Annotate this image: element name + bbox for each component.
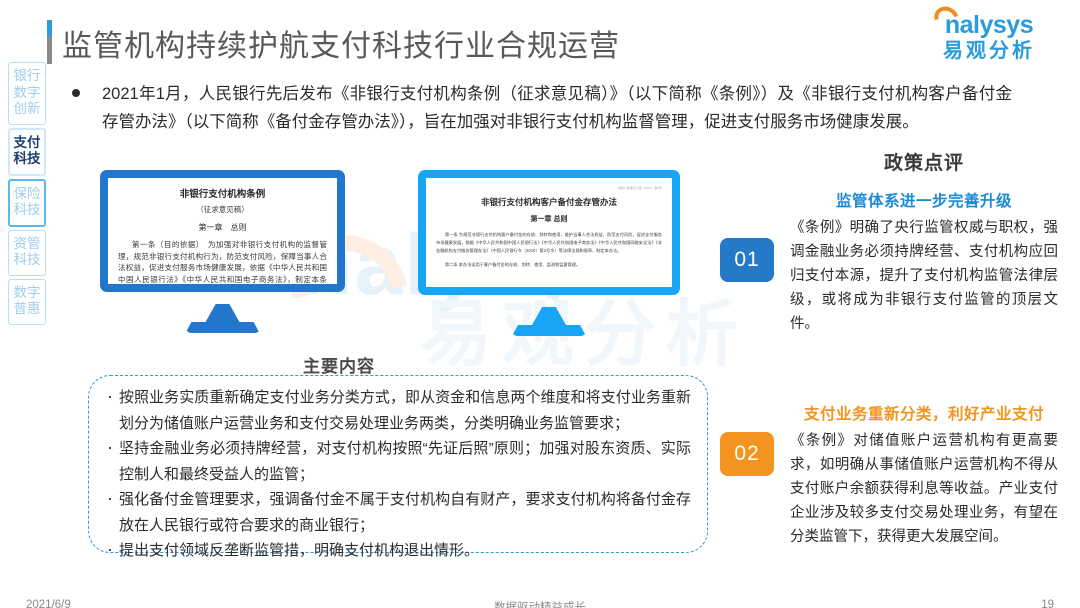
- monitor-left-stand-base: [186, 322, 260, 333]
- monitor-left-bezel: 非银行支付机构条例 （征求意见稿） 第一章 总则 第一条（目的依据） 为加强对非…: [100, 170, 345, 292]
- monitor-right-screen: 中国人民银行公告〔2021〕第1号 非银行支付机构客户备付金存管办法 第一章 总…: [426, 178, 672, 287]
- doc-title: 非银行支付机构条例: [118, 186, 327, 200]
- sidebar: 银行数字创新 支付科技 保险科技 资管科技 数字普惠: [8, 62, 46, 328]
- main-content-box: 按照业务实质重新确定支付业务分类方式，即从资金和信息两个维度和将支付业务重新划分…: [88, 375, 708, 553]
- doc-header: 中国人民银行公告〔2021〕第1号: [436, 186, 662, 190]
- monitor-right-bezel: 中国人民银行公告〔2021〕第1号 非银行支付机构客户备付金存管办法 第一章 总…: [418, 170, 680, 295]
- doc-title: 非银行支付机构客户备付金存管办法: [436, 196, 662, 208]
- doc-paragraph: 第一条（目的依据） 为加强对非银行支付机构的监督管理，规范非银行支付机构行为，防…: [118, 239, 327, 284]
- title-accent-bar: [47, 20, 52, 64]
- intro-paragraph: 2021年1月，人民银行先后发布《非银行支付机构条例（征求意见稿）》（以下简称《…: [72, 80, 1012, 136]
- sidebar-item-label: 保险科技: [10, 186, 44, 219]
- badge-01: 01: [720, 238, 774, 282]
- policy-commentary-title: 政策点评: [790, 148, 1058, 175]
- footer-slogan: 数据驱动精益成长: [0, 599, 1080, 608]
- main-content-label: 主要内容: [303, 352, 375, 377]
- policy-block-2-body: 《条例》对储值账户运营机构有更高要求，如明确从事储值账户运营机构不得从支付账户余…: [790, 429, 1058, 549]
- brand-logo-en: nalysys: [924, 12, 1054, 39]
- brand-logo-cn: 易观分析: [924, 39, 1054, 63]
- doc-paragraph-1: 第一条 为规范非银行支付机构客户备付金的存放、划转和使用，维护当事人合法权益，防…: [436, 231, 662, 255]
- doc-chapter: 第一章 总则: [118, 222, 327, 233]
- list-item: 按照业务实质重新确定支付业务分类方式，即从资金和信息两个维度和将支付业务重新划分…: [105, 385, 691, 436]
- sidebar-item-label: 数字普惠: [9, 285, 45, 318]
- policy-block-1-body: 《条例》明确了央行监管权威与职权，强调金融业务必须持牌经营、支付机构应回归支付本…: [790, 216, 1058, 336]
- page-title: 监管机构持续护航支付科技行业合规运营: [62, 21, 620, 65]
- brand-logo: nalysys 易观分析: [924, 12, 1054, 68]
- list-item: 强化备付金管理要求，强调备付金不属于支付机构自有财产，要求支付机构将备付金存放在…: [105, 487, 691, 538]
- bullet-dot-icon: [72, 89, 80, 97]
- policy-block-2-heading: 支付业务重新分类，利好产业支付: [790, 402, 1058, 424]
- badge-02: 02: [720, 432, 774, 476]
- monitor-left-screen: 非银行支付机构条例 （征求意见稿） 第一章 总则 第一条（目的依据） 为加强对非…: [108, 178, 337, 284]
- policy-block-1: 监管体系进一步完善升级 《条例》明确了央行监管权威与职权，强调金融业务必须持牌经…: [790, 189, 1058, 336]
- footer-page-number: 19: [1041, 599, 1054, 608]
- sidebar-item-label: 支付科技: [10, 135, 44, 168]
- intro-text: 2021年1月，人民银行先后发布《非银行支付机构条例（征求意见稿）》（以下简称《…: [102, 80, 1012, 136]
- policy-commentary-panel: 政策点评 监管体系进一步完善升级 《条例》明确了央行监管权威与职权，强调金融业务…: [790, 148, 1058, 549]
- policy-block-1-heading: 监管体系进一步完善升级: [790, 189, 1058, 211]
- monitor-left: 非银行支付机构条例 （征求意见稿） 第一章 总则 第一条（目的依据） 为加强对非…: [100, 170, 345, 333]
- monitor-left-stand-neck: [206, 304, 240, 322]
- list-item: 提出支付领域反垄断监管措，明确支付机构退出情形。: [105, 538, 691, 564]
- monitor-right-stand-base: [512, 325, 586, 336]
- sidebar-item-label: 资管科技: [9, 236, 45, 269]
- monitor-right: 中国人民银行公告〔2021〕第1号 非银行支付机构客户备付金存管办法 第一章 总…: [418, 170, 680, 336]
- sidebar-item-bank-digital[interactable]: 银行数字创新: [8, 62, 46, 125]
- doc-subtitle: （征求意见稿）: [118, 204, 327, 215]
- sidebar-item-asset-tech[interactable]: 资管科技: [8, 230, 46, 276]
- monitor-right-stand-neck: [532, 307, 566, 325]
- sidebar-item-label: 银行数字创新: [9, 68, 45, 118]
- doc-chapter: 第一章 总则: [436, 214, 662, 224]
- policy-block-2: 支付业务重新分类，利好产业支付 《条例》对储值账户运营机构有更高要求，如明确从事…: [790, 402, 1058, 549]
- sidebar-item-insurance-tech[interactable]: 保险科技: [8, 179, 46, 227]
- list-item: 坚持金融业务必须持牌经营，对支付机构按照“先证后照”原则；加强对股东资质、实际控…: [105, 436, 691, 487]
- sidebar-item-payment-tech[interactable]: 支付科技: [8, 128, 46, 176]
- monitor-right-power-dot-icon: [545, 298, 554, 307]
- monitor-left-power-dot-icon: [218, 295, 227, 304]
- doc-paragraph-2: 第二条 本办法适用于客户备付金的存放、划转、使用、监测和监督管理。: [436, 261, 662, 269]
- main-content-list: 按照业务实质重新确定支付业务分类方式，即从资金和信息两个维度和将支付业务重新划分…: [105, 385, 691, 564]
- sidebar-item-digital-inclusive[interactable]: 数字普惠: [8, 279, 46, 325]
- slide-root: nalysys 易观分析 监管机构持续护航支付科技行业合规运营 nalysys …: [0, 0, 1080, 608]
